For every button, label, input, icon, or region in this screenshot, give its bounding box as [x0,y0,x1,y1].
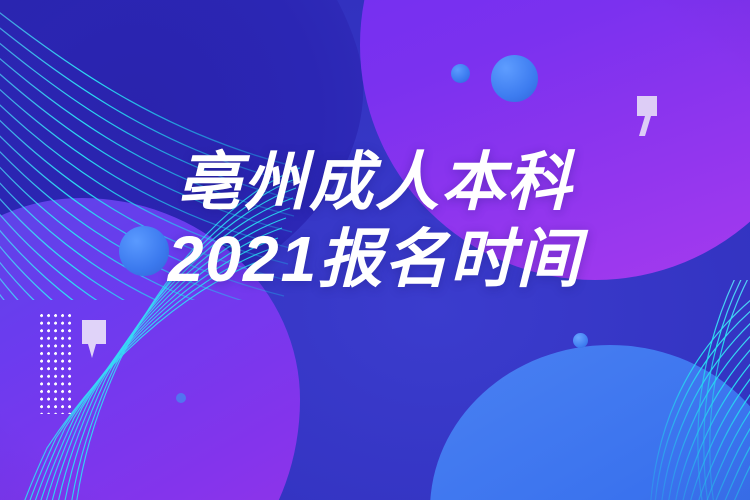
decorative-circle-dot-left-low [176,393,186,403]
decorative-circle-small-top [451,64,470,83]
banner-title-line-2: 2021报名时间 [0,227,750,292]
banner-title-line-1: 亳州成人本科 [0,150,750,215]
decorative-circle-large-top [491,55,538,102]
blue-blob-bottom-right [430,345,750,500]
quote-mark-icon [631,94,661,138]
banner-title-block: 亳州成人本科 2021报名时间 [0,150,750,293]
promo-banner: 亳州成人本科 2021报名时间 [0,0,750,500]
quote-mark-icon [80,318,108,360]
decorative-circle-dot-right [573,333,588,348]
dot-grid-pattern-icon [40,314,74,414]
